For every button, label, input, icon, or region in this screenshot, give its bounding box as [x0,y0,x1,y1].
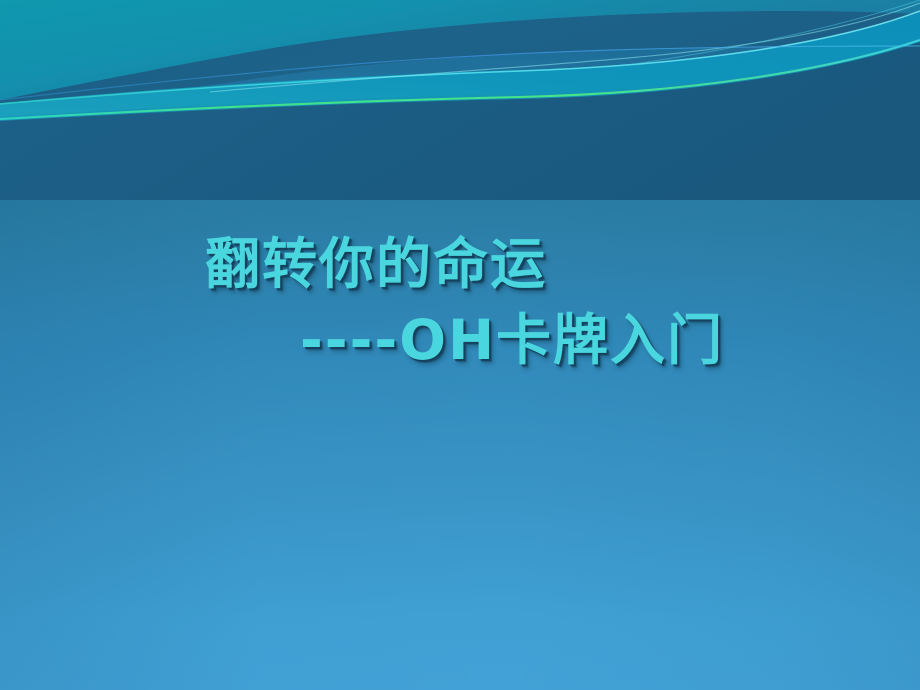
slide-title: 翻转你的命运 ----OH卡牌入门 [0,236,920,370]
slide-title-line-2: ----OH卡牌入门 [0,312,920,370]
presentation-slide: 翻转你的命运 ----OH卡牌入门 [0,0,920,690]
slide-title-line-1: 翻转你的命运 [0,236,920,294]
